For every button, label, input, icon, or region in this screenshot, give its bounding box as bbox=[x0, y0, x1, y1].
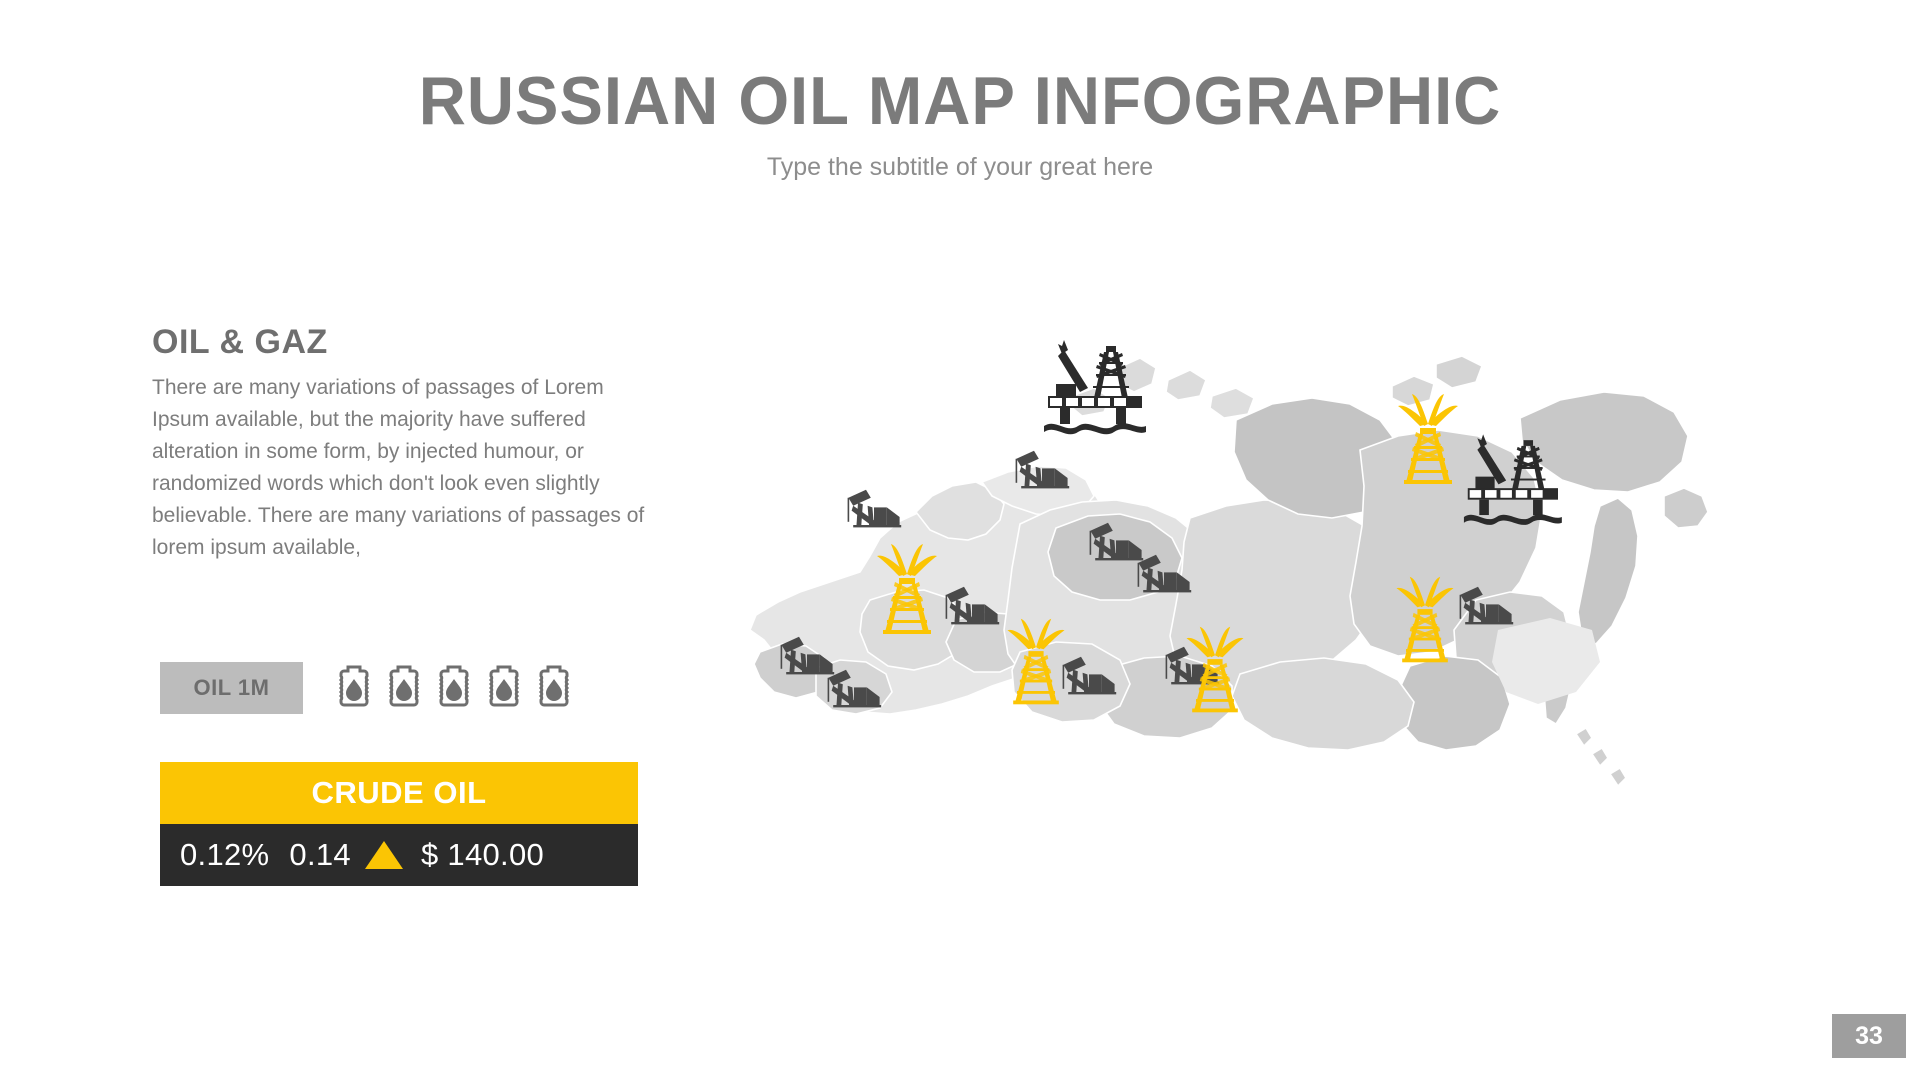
region-chukotka bbox=[1520, 392, 1688, 492]
oil-barrel-drop-icon bbox=[335, 665, 373, 711]
region-kamchatka bbox=[1578, 498, 1638, 644]
barrel-icon-group bbox=[335, 665, 573, 711]
crude-oil-title: CRUDE OIL bbox=[160, 762, 638, 824]
page-number-badge: 33 bbox=[1832, 1014, 1906, 1058]
oil-barrel-drop-icon bbox=[485, 665, 523, 711]
oil-barrel-drop-icon bbox=[535, 665, 573, 711]
crude-change: 0.14 bbox=[289, 837, 351, 873]
region-arctic-island-a bbox=[1166, 370, 1206, 400]
page-subtitle: Type the subtitle of your great here bbox=[0, 138, 1920, 182]
oil-barrel-drop-icon bbox=[385, 665, 423, 711]
triangle-up-icon bbox=[365, 841, 403, 869]
panel-heading: OIL & GAZ bbox=[152, 322, 652, 362]
region-arctic-island-d bbox=[1392, 376, 1434, 406]
russia-map-svg bbox=[720, 300, 1840, 860]
header: RUSSIAN OIL MAP INFOGRAPHIC Type the sub… bbox=[0, 0, 1920, 182]
region-arctic-island-b bbox=[1210, 388, 1254, 418]
oil-meter: OIL 1M bbox=[160, 662, 573, 714]
region-arctic-island-e bbox=[1436, 356, 1482, 388]
pumpjack-icon[interactable] bbox=[848, 490, 902, 528]
oil-badge: OIL 1M bbox=[160, 662, 303, 714]
crude-percent: 0.12% bbox=[180, 837, 269, 873]
region-kuril-a bbox=[1576, 728, 1592, 746]
region-kuril-c bbox=[1610, 768, 1626, 786]
page-title: RUSSIAN OIL MAP INFOGRAPHIC bbox=[38, 0, 1881, 138]
region-kuril-b bbox=[1592, 748, 1608, 766]
left-info-panel: OIL & GAZ There are many variations of p… bbox=[152, 322, 652, 564]
oil-barrel-drop-icon bbox=[435, 665, 473, 711]
crude-price: $ 140.00 bbox=[421, 837, 544, 873]
region-okhotsk-shelf bbox=[1492, 618, 1600, 704]
crude-oil-widget: CRUDE OIL 0.12% 0.14 $ 140.00 bbox=[160, 762, 638, 886]
panel-body-text: There are many variations of passages of… bbox=[152, 372, 652, 564]
region-baikal bbox=[1232, 658, 1414, 750]
region-bering-islands bbox=[1664, 488, 1708, 528]
map-regions bbox=[750, 356, 1708, 786]
crude-oil-stats: 0.12% 0.14 $ 140.00 bbox=[160, 824, 638, 886]
russia-map bbox=[720, 300, 1840, 860]
